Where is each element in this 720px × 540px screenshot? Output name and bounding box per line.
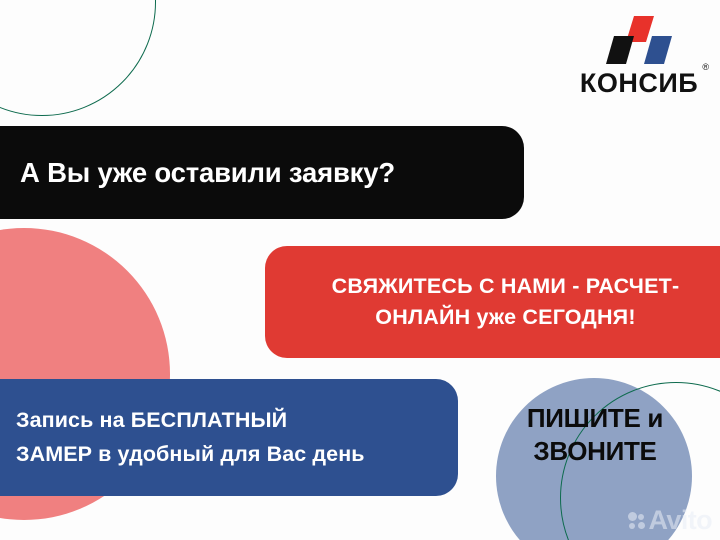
free-measurement-line-1: Запись на БЕСПЛАТНЫЙ — [16, 404, 436, 437]
free-measurement-line-2: ЗАМЕР в удобный для Вас день — [16, 438, 436, 471]
free-measurement-banner: Запись на БЕСПЛАТНЫЙ ЗАМЕР в удобный для… — [0, 379, 458, 496]
avito-dots-icon — [628, 512, 645, 529]
avito-watermark: Avito — [628, 507, 713, 534]
question-banner: А Вы уже оставили заявку? — [0, 126, 524, 219]
contact-banner-line-2: ОНЛАЙН уже СЕГОДНЯ! — [287, 302, 720, 333]
contact-banner-line-1: СВЯЖИТЕСЬ С НАМИ - РАСЧЕТ- — [287, 271, 720, 302]
cta-line-2: ЗВОНИТЕ — [492, 435, 698, 468]
question-banner-line-1: А Вы уже оставили заявку? — [20, 157, 492, 189]
promo-banner-canvas: КОНСИБ ® А Вы уже оставили заявку? СВЯЖИ… — [0, 0, 720, 540]
write-and-call-cta: ПИШИТЕ и ЗВОНИТЕ — [492, 402, 698, 469]
avito-watermark-label: Avito — [649, 507, 713, 534]
brand-name: КОНСИБ — [570, 68, 708, 99]
contact-banner: СВЯЖИТЕСЬ С НАМИ - РАСЧЕТ- ОНЛАЙН уже СЕ… — [265, 246, 720, 358]
green-ring-top-left-decoration — [0, 0, 156, 116]
konsib-parallelogram-logo-icon — [570, 14, 708, 66]
trademark-symbol: ® — [702, 62, 709, 72]
cta-line-1: ПИШИТЕ и — [492, 402, 698, 435]
brand-logo: КОНСИБ ® — [570, 14, 708, 106]
